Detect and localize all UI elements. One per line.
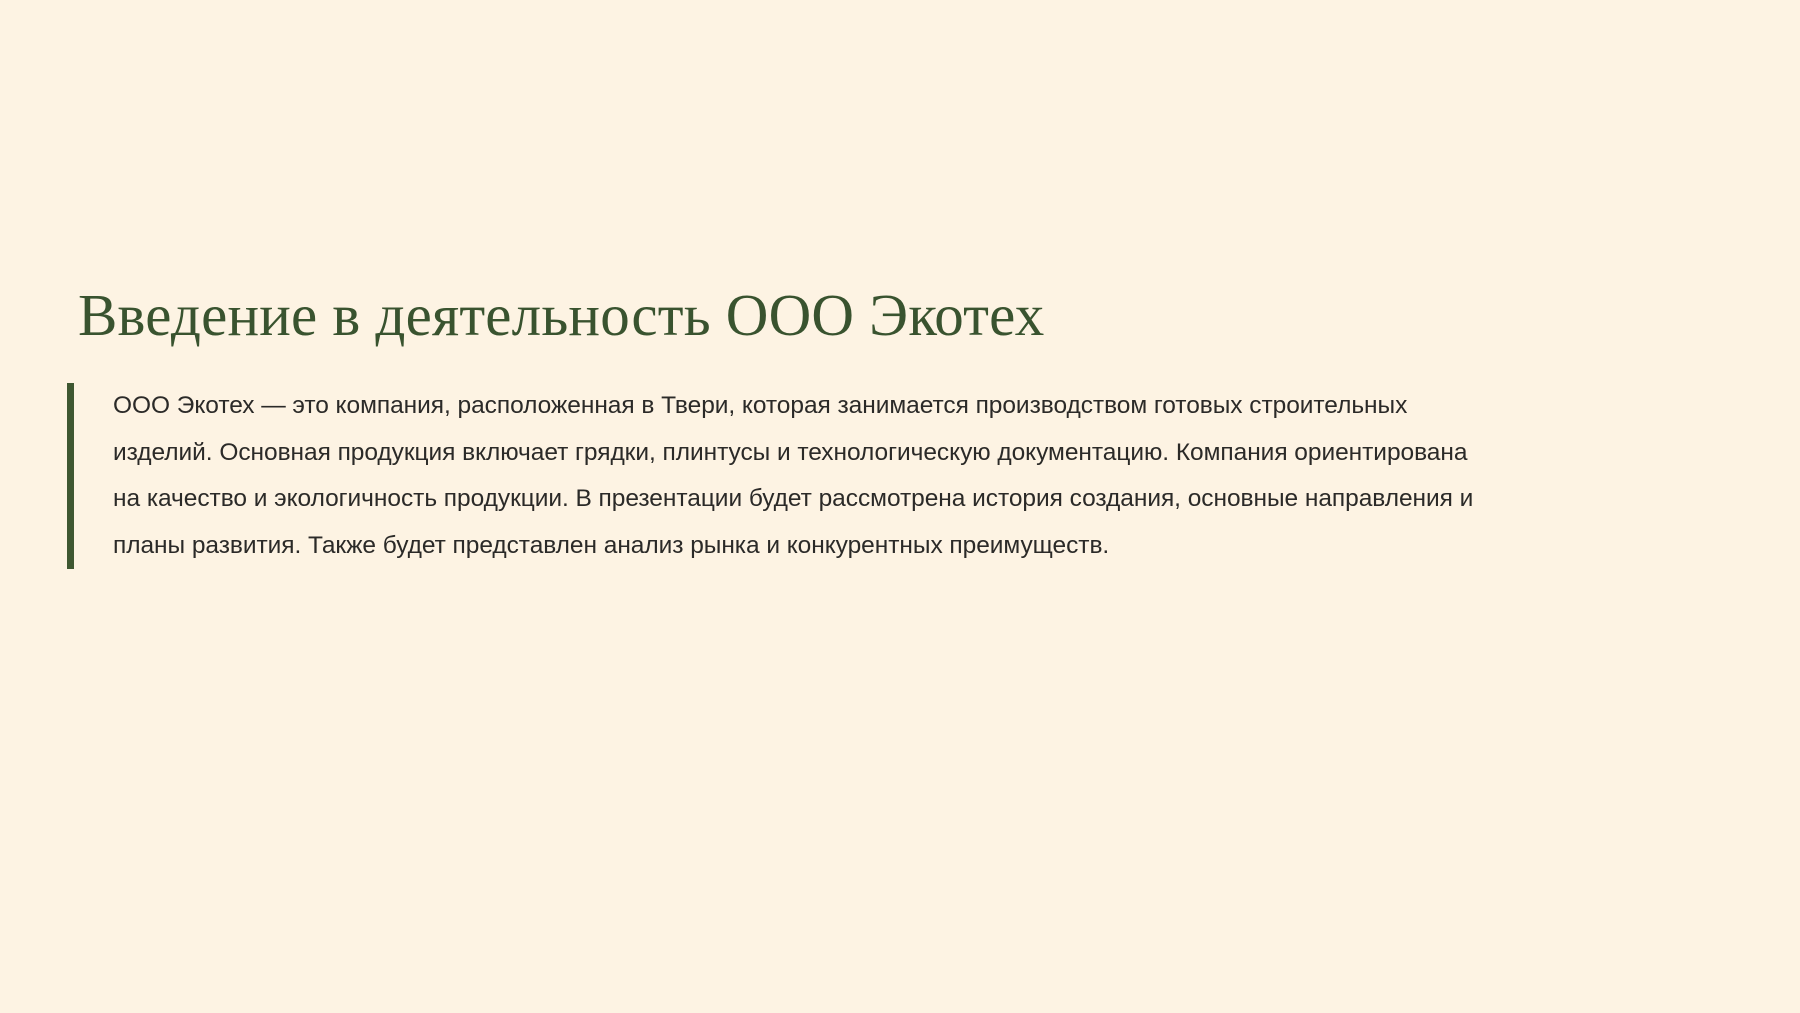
accent-bar (67, 383, 74, 569)
body-text-container: ООО Экотех — это компания, расположенная… (74, 383, 1497, 569)
quote-block: ООО Экотех — это компания, расположенная… (67, 383, 1497, 569)
body-paragraph: ООО Экотех — это компания, расположенная… (113, 383, 1497, 569)
page-title: Введение в деятельность ООО Экотех (78, 283, 1578, 347)
presentation-slide: Введение в деятельность ООО Экотех ООО Э… (0, 0, 1800, 1013)
